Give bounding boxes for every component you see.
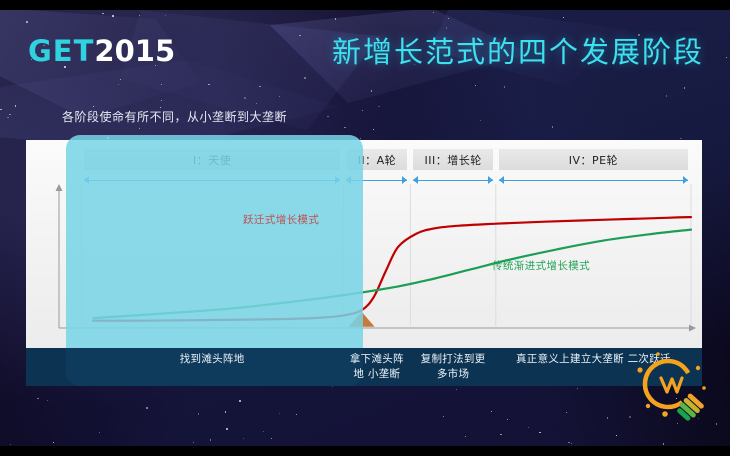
stage-span-iv bbox=[499, 176, 688, 185]
stage-chip-iii: III：增长轮 bbox=[413, 149, 492, 170]
letterbox-top bbox=[0, 0, 730, 10]
get-2015-logo: GET 2015 bbox=[28, 34, 175, 68]
chart-card: I：天使II：A轮III：增长轮IV：PE轮 bbox=[26, 140, 702, 348]
stage-caption-iii: 复制打法到更多市场 bbox=[416, 352, 489, 382]
logo-year-text: 2015 bbox=[94, 37, 175, 66]
annotation-traditional-growth: 传统渐进式增长模式 bbox=[492, 258, 590, 273]
growth-curve-chart bbox=[26, 140, 702, 348]
stage-chip-iv: IV：PE轮 bbox=[499, 149, 688, 170]
annotation-leap-growth: 跃迁式增长模式 bbox=[243, 212, 319, 227]
stage-chip-i: I：天使 bbox=[84, 149, 340, 170]
page-title: 新增长范式的四个发展阶段 bbox=[332, 38, 704, 67]
chart-axes bbox=[56, 184, 697, 332]
stage-span-ii bbox=[346, 176, 407, 185]
stage-caption-ii: 拿下滩头阵地 小垄断 bbox=[349, 352, 404, 382]
stage-chip-ii: II：A轮 bbox=[346, 149, 407, 170]
page-subtitle: 各阶段使命有所不同，从小垄断到大垄断 bbox=[62, 108, 287, 125]
chart-series bbox=[93, 217, 691, 321]
polygon-facet bbox=[0, 60, 340, 150]
stage-dividers bbox=[81, 184, 691, 326]
logo-get-text: GET bbox=[28, 37, 94, 66]
stage-span-i bbox=[84, 176, 340, 185]
lightbulb-icon bbox=[628, 348, 716, 430]
letterbox-bottom bbox=[0, 446, 730, 456]
stage-caption-i: 找到滩头阵地 bbox=[87, 352, 337, 367]
stage-span-iii bbox=[413, 176, 492, 185]
